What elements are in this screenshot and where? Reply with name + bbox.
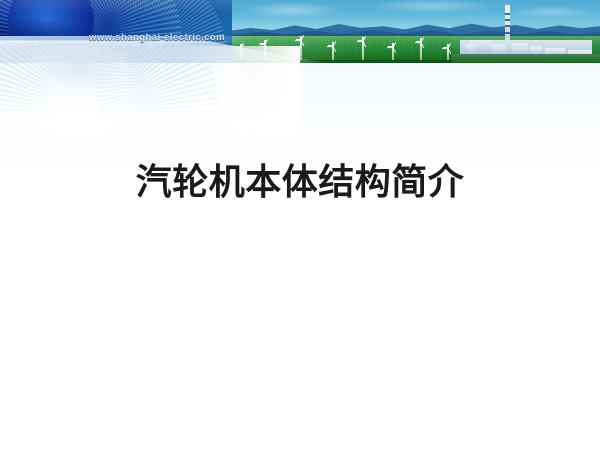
slide-body-background [0, 63, 600, 450]
wind-turbine-rotor [415, 36, 426, 47]
wind-turbine [447, 44, 449, 60]
wind-turbine [300, 36, 302, 60]
wind-turbine [332, 42, 334, 60]
wind-turbine-rotor [327, 40, 338, 51]
wind-turbine [362, 37, 364, 60]
presentation-slide: www.shanghai-electric.com 汽轮机本体结构简介 [0, 0, 600, 450]
power-plant-photo [452, 0, 600, 63]
wind-turbine-rotor [295, 34, 306, 45]
wind-turbine-rotor [387, 41, 398, 52]
page-title: 汽轮机本体结构简介 [0, 160, 600, 206]
wind-turbine-rotor [259, 38, 270, 49]
slide-header-banner: www.shanghai-electric.com [0, 0, 600, 63]
wind-turbine [392, 43, 394, 60]
wind-turbine-rotor [357, 35, 368, 46]
company-website-url: www.shanghai-electric.com [89, 32, 225, 43]
wind-turbine [420, 38, 422, 60]
power-plant-haze [452, 0, 600, 63]
